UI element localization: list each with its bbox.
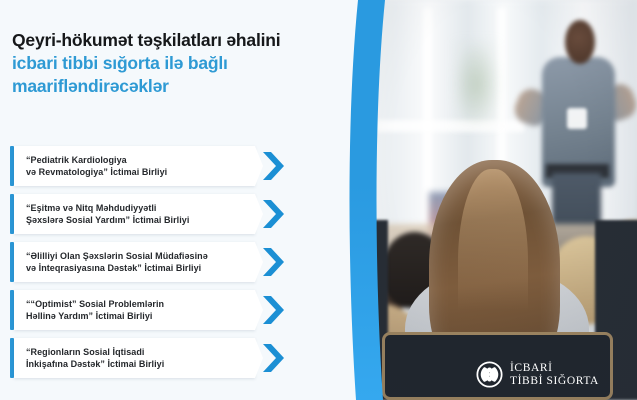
list-item[interactable]: “Regionların Sosial İqtisadi İnkişafına … xyxy=(10,338,295,378)
list-item-line-1: “Regionların Sosial İqtisadi xyxy=(26,346,164,358)
list-item-line-2: və Revmatologiya” İctimai Birliyi xyxy=(26,166,167,178)
chevron-right-icon[interactable] xyxy=(260,199,286,229)
banner-title: Qeyri-hökumət təşkilatları əhalini icbar… xyxy=(12,29,352,98)
title-line-1: Qeyri-hökumət təşkilatları əhalini xyxy=(12,29,352,52)
list-item[interactable]: “Əlilliyi Olan Şəxslərin Sosial Müdafiəs… xyxy=(10,242,295,282)
banner-root: 0% stop-color="#1e7fd0"/> Qeyri-hökumət … xyxy=(0,0,637,400)
list-item-text: “Regionların Sosial İqtisadi İnkişafına … xyxy=(14,346,164,370)
title-line-2: icbari tibbi sığorta ilə bağlı xyxy=(12,52,352,75)
list-item-text: “Eşitmə və Nitq Məhdudiyyətli Şəxslərə S… xyxy=(14,202,189,226)
list-item-text: ““Optimist” Sosial Problemlərin Həllinə … xyxy=(14,298,164,322)
list-item-card[interactable]: “Pediatrik Kardiologiya və Revmatologiya… xyxy=(14,146,255,186)
list-item-line-2: və İnteqrasiyasına Dəstək” İctimai Birli… xyxy=(26,262,208,274)
list-item-text: “Pediatrik Kardiologiya və Revmatologiya… xyxy=(14,154,167,178)
chevron-right-icon[interactable] xyxy=(260,151,286,181)
list-item-card[interactable]: “Regionların Sosial İqtisadi İnkişafına … xyxy=(14,338,255,378)
list-item[interactable]: “Eşitmə və Nitq Məhdudiyyətli Şəxslərə S… xyxy=(10,194,295,234)
chevron-right-icon[interactable] xyxy=(260,247,286,277)
chevron-right-icon[interactable] xyxy=(260,295,286,325)
list-item-card[interactable]: “Əlilliyi Olan Şəxslərin Sosial Müdafiəs… xyxy=(14,242,255,282)
list-item[interactable]: “Pediatrik Kardiologiya və Revmatologiya… xyxy=(10,146,295,186)
insurance-emblem-icon xyxy=(476,361,503,388)
list-item-line-1: “Əlilliyi Olan Şəxslərin Sosial Müdafiəs… xyxy=(26,250,208,262)
list-item-line-2: Şəxslərə Sosial Yardım” İctimai Birliyi xyxy=(26,214,189,226)
list-item-line-1: ““Optimist” Sosial Problemlərin xyxy=(26,298,164,310)
brand-logo-line-1: İCBARİ xyxy=(510,362,599,375)
brand-logo: İCBARİ TİBBİ SIĞORTA xyxy=(476,361,599,388)
brand-logo-text: İCBARİ TİBBİ SIĞORTA xyxy=(510,362,599,387)
list-item-text: “Əlilliyi Olan Şəxslərin Sosial Müdafiəs… xyxy=(14,250,208,274)
list-item-line-1: “Pediatrik Kardiologiya xyxy=(26,154,167,166)
list-item-line-2: İnkişafına Dəstək” İctimai Birliyi xyxy=(26,358,164,370)
organization-list: “Pediatrik Kardiologiya və Revmatologiya… xyxy=(10,146,295,386)
list-item-card[interactable]: ““Optimist” Sosial Problemlərin Həllinə … xyxy=(14,290,255,330)
list-item[interactable]: ““Optimist” Sosial Problemlərin Həllinə … xyxy=(10,290,295,330)
title-line-3: maarifləndirəcəklər xyxy=(12,75,352,98)
list-item-line-2: Həllinə Yardım” İctimai Birliyi xyxy=(26,310,164,322)
brand-logo-line-2: TİBBİ SIĞORTA xyxy=(510,375,599,388)
chevron-right-icon[interactable] xyxy=(260,343,286,373)
list-item-card[interactable]: “Eşitmə və Nitq Məhdudiyyətli Şəxslərə S… xyxy=(14,194,255,234)
list-item-line-1: “Eşitmə və Nitq Məhdudiyyətli xyxy=(26,202,189,214)
